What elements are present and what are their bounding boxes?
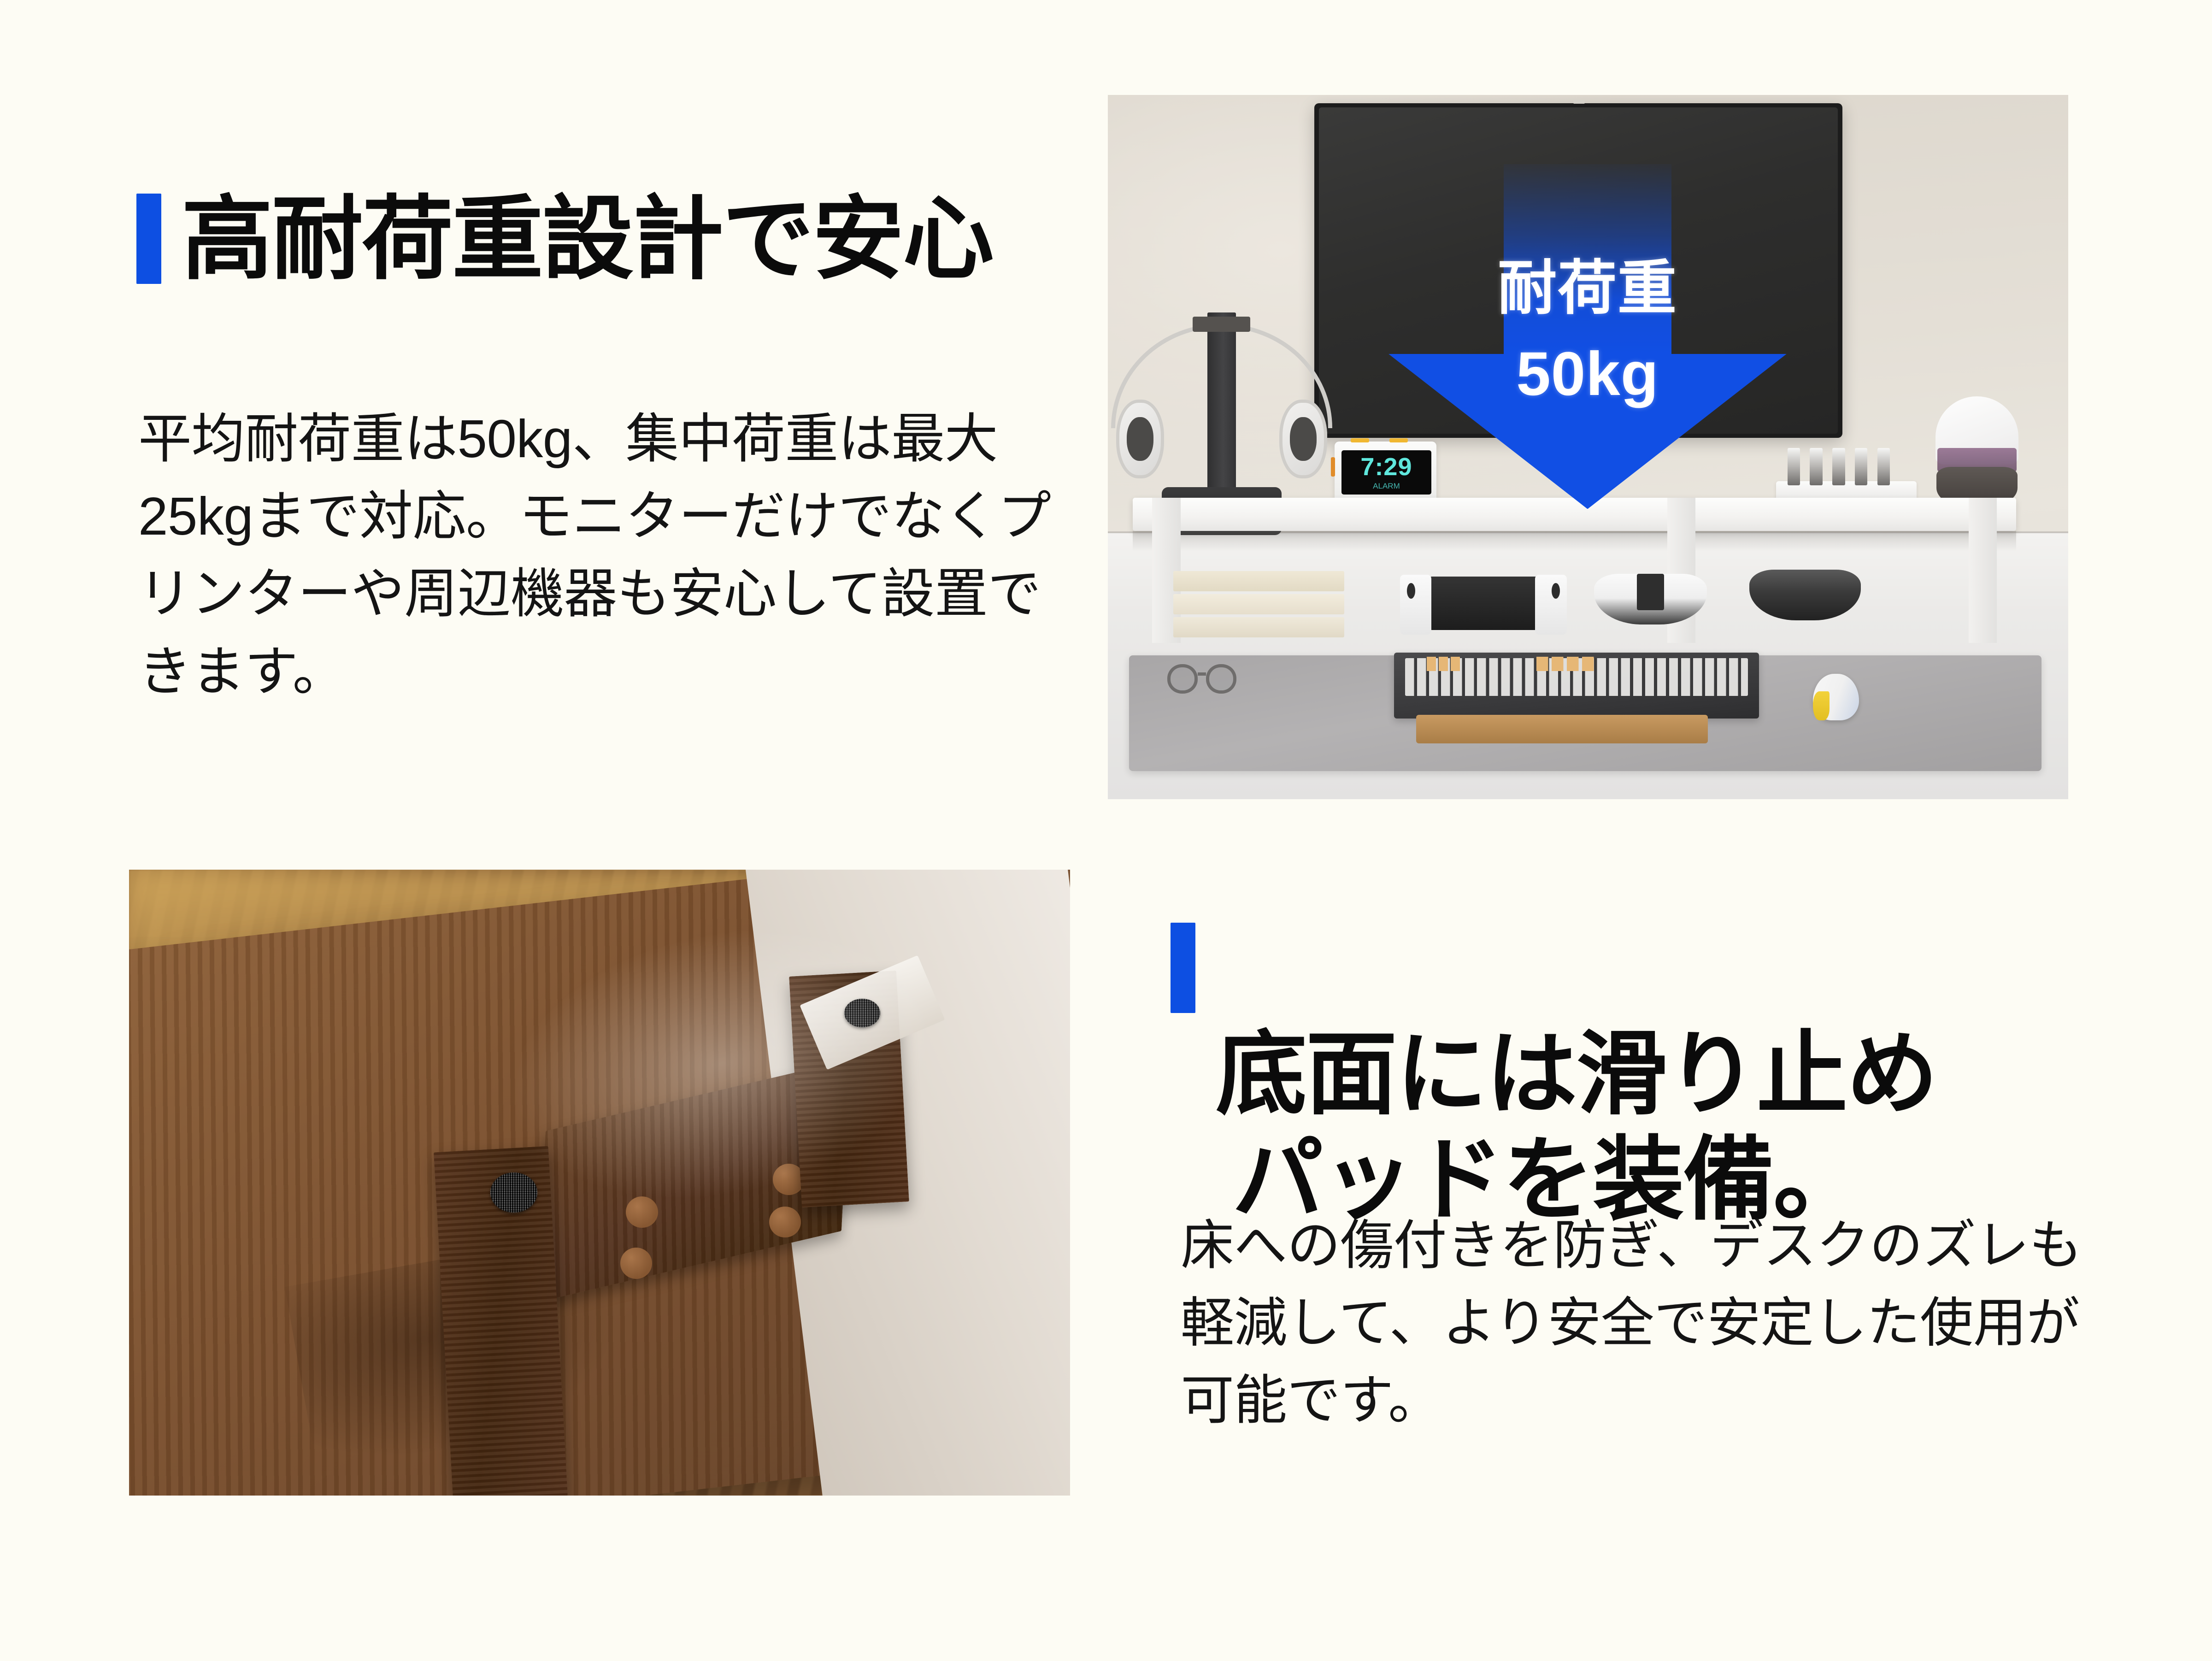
headphone-stand-post	[1207, 312, 1236, 496]
humidifier	[1935, 396, 2018, 506]
keyboard-accent-keys-right	[1536, 657, 1595, 671]
eyeglasses-lens-right	[1206, 664, 1236, 694]
book-stack	[1173, 571, 1344, 639]
keyboard-wrist-rest	[1416, 715, 1708, 743]
load-arrow-label: 耐荷重	[1388, 259, 1787, 318]
computer-mouse	[1813, 674, 1859, 720]
game-controller-white	[1594, 574, 1707, 624]
body-load-capacity: 平均耐荷重は50kg、集中荷重は最大25kgまで対応。モニターだけでなくプリンタ…	[138, 400, 1069, 710]
handheld-stick-left	[1407, 583, 1415, 599]
mechanical-keyboard	[1394, 653, 1759, 742]
audio-tube-4	[1855, 448, 1867, 485]
controller-center-strip	[1637, 574, 1664, 610]
audio-tube-5	[1877, 448, 1890, 485]
mouse-accent	[1813, 691, 1830, 720]
handheld-stick-right	[1552, 583, 1560, 599]
wood-dowel-plug	[620, 1248, 652, 1279]
promo-page: 高耐荷重設計で安心 平均耐荷重は50kg、集中荷重は最大25kgまで対応。モニタ…	[0, 0, 2212, 1661]
wood-dowel-plug	[769, 1207, 801, 1238]
body-anti-slip-pad: 床への傷付きを防ぎ、デスクのズレも軽減して、より安全で安定した使用が可能です。	[1181, 1207, 2084, 1439]
keyboard-accent-keys-left	[1427, 657, 1459, 671]
audio-tube-2	[1810, 448, 1822, 485]
heading-load-capacity-text: 高耐荷重設計で安心	[182, 186, 993, 292]
photo-desk-setup: 7:29 ALARM	[1108, 95, 2068, 799]
handheld-game-console	[1400, 577, 1567, 630]
alarm-clock-button-side	[1331, 457, 1335, 477]
load-arrow-icon: 耐荷重 50kg	[1388, 164, 1787, 509]
headphone-earcup-right	[1279, 400, 1327, 478]
game-controller-black	[1749, 570, 1861, 620]
handheld-grip-left	[1400, 575, 1432, 635]
eyeglasses	[1167, 664, 1236, 694]
photo-anti-slip-pad-detail	[129, 870, 1070, 1496]
heading-load-capacity: 高耐荷重設計で安心	[136, 186, 993, 292]
handheld-grip-right	[1535, 575, 1567, 635]
book-1	[1173, 571, 1344, 591]
accent-bar-icon	[1171, 923, 1195, 1013]
headphone-earcup-left	[1116, 400, 1164, 478]
audio-accessory-tray	[1776, 450, 1916, 502]
heading-anti-slip-line1: 底面には滑り止め	[1216, 1023, 1937, 1125]
controller-shell	[1749, 570, 1861, 620]
eyeglasses-lens-left	[1167, 664, 1198, 694]
audio-tube-3	[1832, 448, 1845, 485]
accent-bar-icon	[136, 194, 161, 284]
keyboard-body	[1394, 653, 1759, 718]
riser-under-shadow	[1133, 531, 2016, 551]
book-3	[1173, 617, 1344, 637]
alarm-clock-button-top-left	[1351, 438, 1369, 442]
load-arrow-value: 50kg	[1388, 343, 1787, 405]
book-2	[1173, 594, 1344, 614]
headphone-stand-top-pad	[1193, 317, 1250, 332]
eyeglasses-bridge	[1198, 672, 1206, 676]
handheld-screen	[1430, 577, 1537, 630]
riser-leg-right	[1969, 498, 1997, 643]
audio-tube-1	[1788, 448, 1800, 485]
monitor-camera-icon	[1573, 100, 1585, 104]
